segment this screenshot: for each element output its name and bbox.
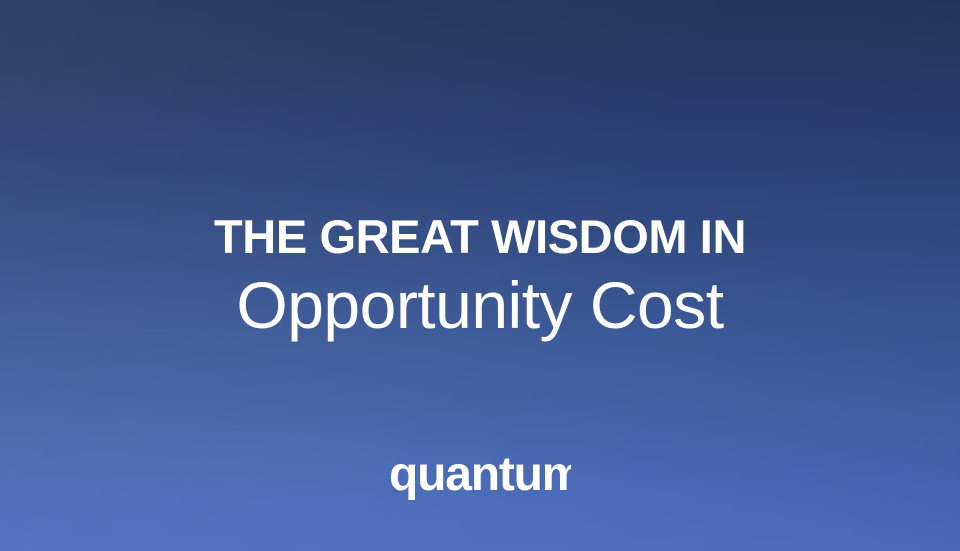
brand-logo: quantum [0, 448, 960, 506]
svg-text:quantum: quantum [389, 448, 571, 501]
title-slide: THE GREAT WISDOM IN Opportunity Cost qua… [0, 0, 960, 551]
page-title: THE GREAT WISDOM IN [0, 212, 960, 261]
quantum-logo-icon: quantum [389, 448, 571, 506]
page-subtitle: Opportunity Cost [0, 268, 960, 344]
